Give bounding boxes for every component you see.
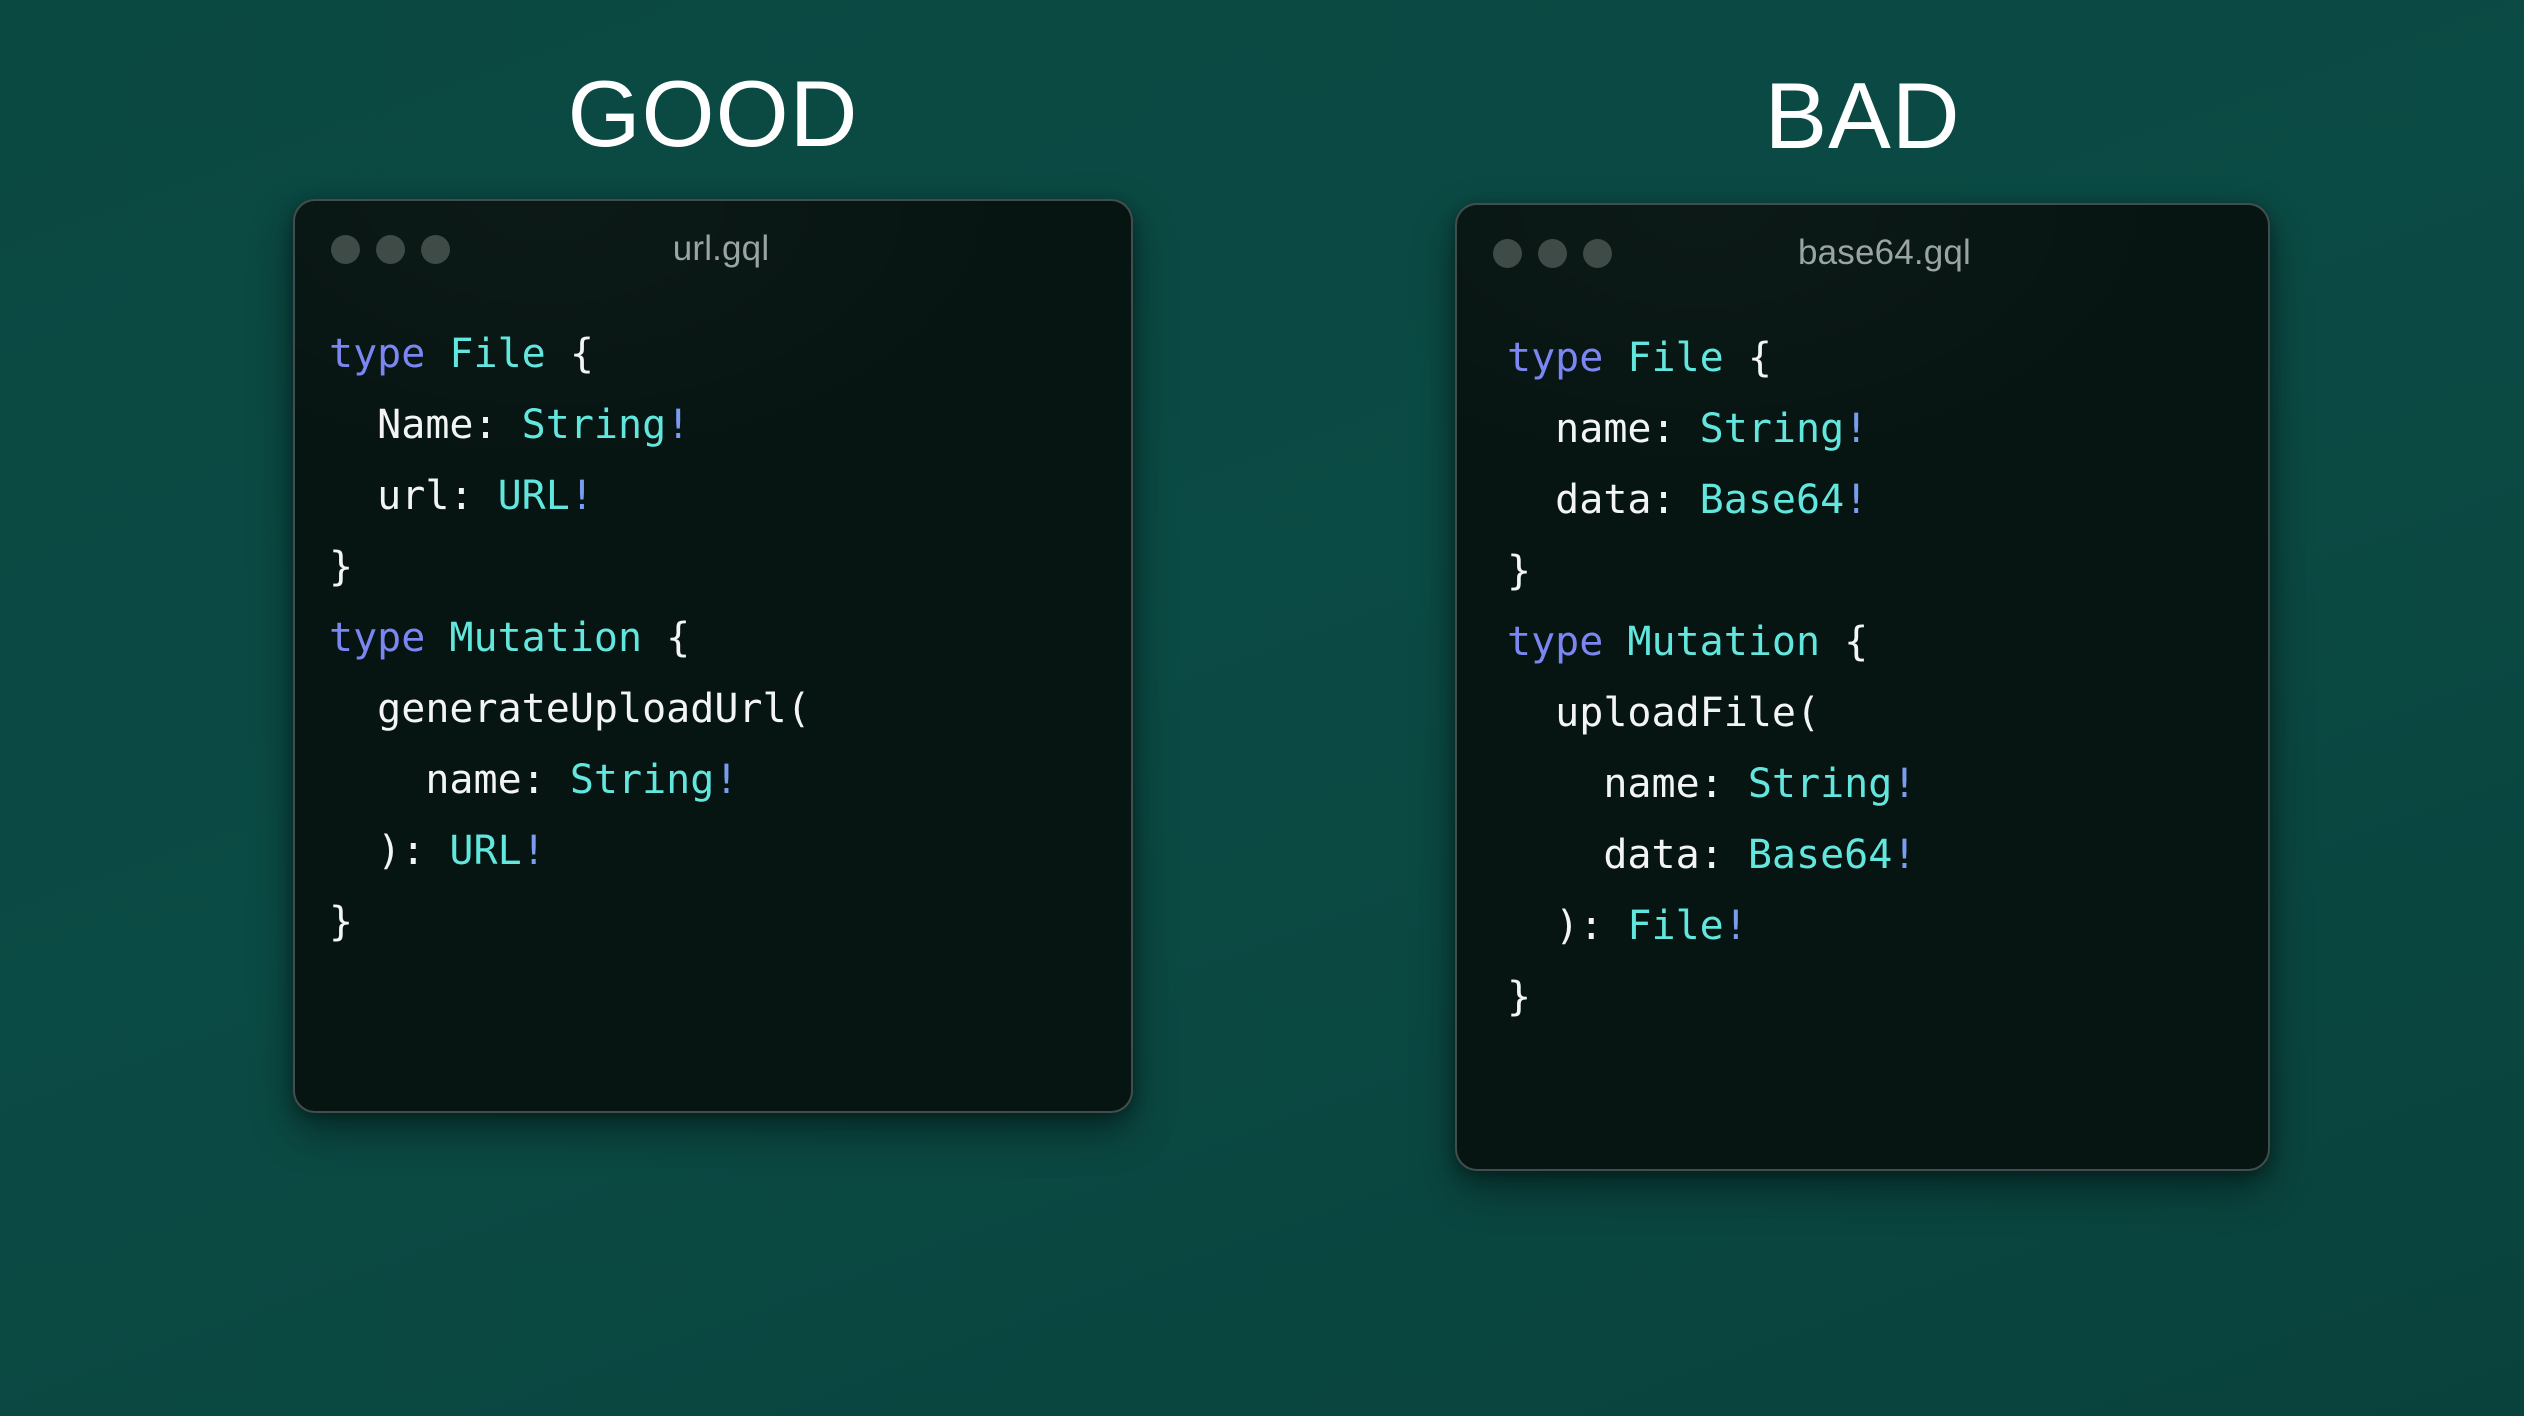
code-line: name: String!	[1507, 394, 2268, 465]
code-token-kw: type	[1507, 619, 1603, 665]
code-line: url: URL!	[329, 461, 1131, 532]
code-line: }	[1507, 962, 2268, 1033]
code-line: }	[1507, 536, 2268, 607]
code-token-field: data	[1507, 477, 1652, 523]
code-line: Name: String!	[329, 390, 1131, 461]
code-token-field: generateUploadUrl(	[329, 686, 811, 732]
code-token-type: String	[1700, 406, 1845, 452]
code-token-bang: !	[1844, 477, 1868, 523]
code-window-bad: base64.gql type File { name: String! dat…	[1455, 203, 2270, 1171]
code-token-punct: }	[1507, 974, 1531, 1020]
code-token-type: URL	[449, 828, 521, 874]
code-token-field: data	[1507, 832, 1700, 878]
traffic-dot-close-icon[interactable]	[331, 235, 360, 264]
code-line: ): File!	[1507, 891, 2268, 962]
code-token-bang: !	[570, 473, 594, 519]
code-line: }	[329, 532, 1131, 603]
column-bad: BAD base64.gql type File { name: String!…	[1455, 0, 2270, 1171]
code-token-kw: type	[1507, 335, 1603, 381]
code-line: name: String!	[1507, 749, 2268, 820]
code-token-punct: :	[1652, 406, 1700, 452]
code-token-field: name	[329, 757, 522, 803]
code-token-bang: !	[666, 402, 690, 448]
code-block-good: type File { Name: String! url: URL!}type…	[295, 297, 1131, 958]
code-token-type: URL	[498, 473, 570, 519]
code-token-type: File	[449, 331, 545, 377]
code-block-bad: type File { name: String! data: Base64!}…	[1457, 301, 2268, 1033]
code-token-type: Base64	[1748, 832, 1893, 878]
code-token-field: name	[1507, 761, 1700, 807]
heading-bad: BAD	[1455, 69, 2270, 163]
title-bar-good: url.gql	[295, 201, 1131, 297]
code-token-punct: {	[1820, 619, 1868, 665]
title-bar-bad: base64.gql	[1457, 205, 2268, 301]
code-token-punct: {	[546, 331, 594, 377]
code-token-field: uploadFile(	[1507, 690, 1820, 736]
code-token-field: url	[329, 473, 449, 519]
code-token-punct: :	[449, 473, 497, 519]
code-token-bang: !	[1892, 761, 1916, 807]
code-token-punct: }	[329, 544, 353, 590]
code-token-plain	[425, 615, 449, 661]
code-line: type File {	[329, 319, 1131, 390]
code-line: data: Base64!	[1507, 465, 2268, 536]
code-token-type: String	[522, 402, 667, 448]
code-token-punct: :	[1700, 761, 1748, 807]
code-token-plain	[425, 331, 449, 377]
comparison-stage: GOOD url.gql type File { Name: String! u…	[0, 0, 2524, 1416]
code-token-punct: ):	[1507, 903, 1627, 949]
code-line: uploadFile(	[1507, 678, 2268, 749]
traffic-dot-close-icon[interactable]	[1493, 239, 1522, 268]
code-token-type: String	[1748, 761, 1893, 807]
code-line: data: Base64!	[1507, 820, 2268, 891]
code-token-type: File	[1627, 335, 1723, 381]
code-token-punct: {	[642, 615, 690, 661]
code-token-bang: !	[1892, 832, 1916, 878]
code-token-bang: !	[714, 757, 738, 803]
code-token-field: name	[1507, 406, 1652, 452]
code-token-type: File	[1627, 903, 1723, 949]
code-token-kw: type	[329, 331, 425, 377]
code-token-plain	[1603, 619, 1627, 665]
code-line: type File {	[1507, 323, 2268, 394]
code-token-bang: !	[522, 828, 546, 874]
code-token-punct: :	[1652, 477, 1700, 523]
code-token-punct: :	[1700, 832, 1748, 878]
code-token-field: Name	[329, 402, 474, 448]
code-line: name: String!	[329, 745, 1131, 816]
code-line: }	[329, 887, 1131, 958]
traffic-dot-zoom-icon[interactable]	[421, 235, 450, 264]
code-token-bang: !	[1844, 406, 1868, 452]
code-token-type: Base64	[1700, 477, 1845, 523]
code-line: ): URL!	[329, 816, 1131, 887]
code-line: type Mutation {	[1507, 607, 2268, 678]
code-token-punct: ):	[329, 828, 449, 874]
code-token-type: Mutation	[449, 615, 642, 661]
code-token-type: String	[570, 757, 715, 803]
traffic-dot-minimize-icon[interactable]	[376, 235, 405, 264]
traffic-lights-good	[331, 235, 450, 264]
code-window-good: url.gql type File { Name: String! url: U…	[293, 199, 1133, 1113]
traffic-dot-zoom-icon[interactable]	[1583, 239, 1612, 268]
code-token-punct: {	[1724, 335, 1772, 381]
code-token-punct: :	[474, 402, 522, 448]
traffic-lights-bad	[1493, 239, 1612, 268]
traffic-dot-minimize-icon[interactable]	[1538, 239, 1567, 268]
heading-good: GOOD	[293, 67, 1133, 161]
code-token-punct: :	[522, 757, 570, 803]
code-token-punct: }	[329, 899, 353, 945]
code-token-type: Mutation	[1627, 619, 1820, 665]
code-token-kw: type	[329, 615, 425, 661]
code-token-bang: !	[1724, 903, 1748, 949]
code-token-plain	[1603, 335, 1627, 381]
column-good: GOOD url.gql type File { Name: String! u…	[293, 0, 1133, 1113]
code-line: type Mutation {	[329, 603, 1131, 674]
code-token-punct: }	[1507, 548, 1531, 594]
code-line: generateUploadUrl(	[329, 674, 1131, 745]
